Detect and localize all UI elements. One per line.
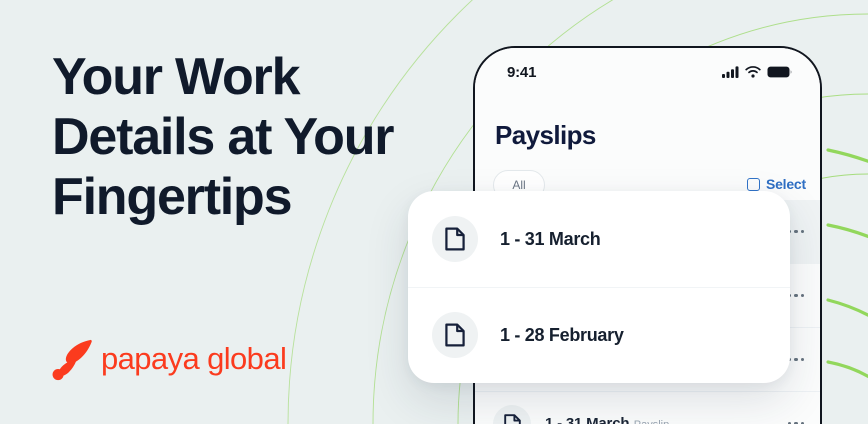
payslip-selection-card: 1 - 31 March 1 - 28 February <box>408 191 790 383</box>
document-icon <box>432 312 478 358</box>
overlay-list-item[interactable]: 1 - 28 February <box>408 287 790 383</box>
overlay-list-item[interactable]: 1 - 31 March <box>408 191 790 287</box>
document-icon <box>432 216 478 262</box>
document-icon <box>493 405 531 424</box>
status-icons <box>722 66 792 78</box>
page-title: Your Work Details at Your Fingertips <box>52 47 442 227</box>
list-item-text: 1 - 31 March Payslip <box>545 415 788 424</box>
wifi-icon <box>745 66 761 78</box>
promo-banner: Your Work Details at Your Fingertips pap… <box>0 0 868 424</box>
status-bar: 9:41 <box>475 60 820 84</box>
brand-logo: papaya global <box>52 337 286 381</box>
battery-icon <box>767 66 792 78</box>
papaya-bird-icon <box>52 337 92 381</box>
select-label: Select <box>766 176 806 192</box>
overlay-item-label: 1 - 31 March <box>500 229 600 250</box>
list-item-title: 1 - 31 March <box>545 415 629 424</box>
status-time: 9:41 <box>507 64 536 81</box>
list-item[interactable]: 1 - 31 March Payslip <box>475 392 820 424</box>
cellular-signal-icon <box>722 66 739 78</box>
list-item-subtitle: Payslip <box>634 419 669 424</box>
hero-text-block: Your Work Details at Your Fingertips <box>52 47 442 227</box>
select-control[interactable]: Select <box>747 176 806 192</box>
filter-chip-label: All <box>512 178 525 192</box>
overlay-item-label: 1 - 28 February <box>500 325 624 346</box>
brand-name: papaya global <box>101 342 286 376</box>
checkbox-icon[interactable] <box>747 178 760 191</box>
payslips-heading: Payslips <box>495 120 596 151</box>
